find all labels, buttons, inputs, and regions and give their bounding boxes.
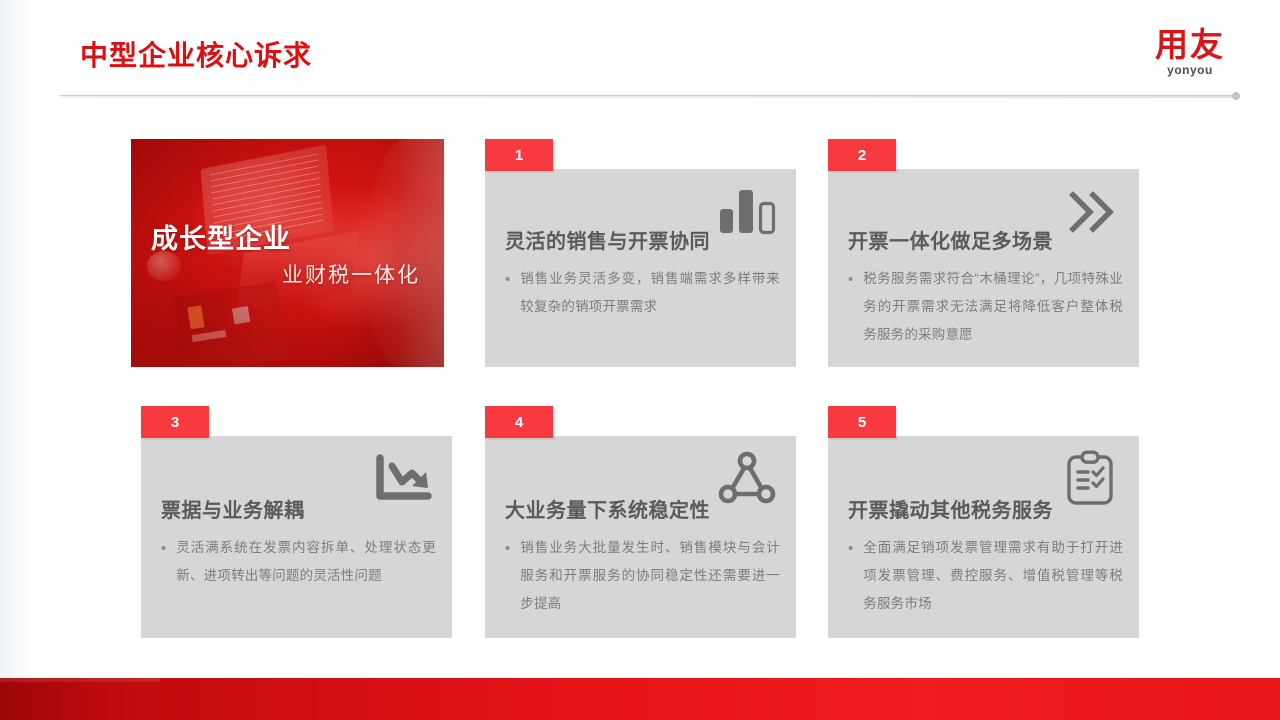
brand-logo-cn: 用友 [1134, 28, 1246, 62]
card-heading-2: 开票一体化做足多场景 [848, 231, 1053, 253]
brand-logo-en: yonyou [1134, 63, 1246, 77]
brand-logo: 用友 yonyou [1134, 28, 1246, 77]
card-text-5: 全面满足销项发票管理需求有助于打开进项发票管理、费控服务、增值税管理等税务服务市… [863, 534, 1123, 618]
feature-card-4[interactable]: 4 大业务量下系统稳定性 • 销售业务大批量发生时、销售模块与会计服务和开票服务… [485, 436, 796, 638]
bullet-icon: • [848, 534, 853, 618]
card-heading-3: 票据与业务解耦 [161, 500, 305, 522]
double-chevron-right-icon [1059, 183, 1121, 241]
feature-card-5[interactable]: 5 开票撬动其他税务服务 • 全面满足销项发票管理需求有助于打开进项发票管理、费… [828, 436, 1139, 638]
card-text-3: 灵活满系统在发票内容拆单、处理状态更新、进项转出等问题的灵活性问题 [176, 534, 436, 590]
card-badge-3: 3 [141, 406, 209, 438]
bar-chart-icon [716, 183, 778, 241]
card-badge-1: 1 [485, 139, 553, 171]
feature-card-2[interactable]: 2 开票一体化做足多场景 • 税务服务需求符合“木桶理论”，几项特殊业务的开票需… [828, 169, 1139, 367]
header-divider-endpoint-dot [1232, 92, 1240, 100]
hero-photo-caption: 成长型企业 业财税一体化 [131, 225, 444, 288]
declining-chart-icon [372, 450, 434, 508]
bullet-icon: • [505, 265, 510, 321]
card-heading-1: 灵活的销售与开票协同 [505, 231, 710, 253]
feature-card-3[interactable]: 3 票据与业务解耦 • 灵活满系统在发票内容拆单、处理状态更新、进项转出等问题的… [141, 436, 452, 638]
card-body-4: • 销售业务大批量发生时、销售模块与会计服务和开票服务的协同稳定性还需要进一步提… [505, 534, 780, 618]
card-text-4: 销售业务大批量发生时、销售模块与会计服务和开票服务的协同稳定性还需要进一步提高 [520, 534, 780, 618]
bullet-icon: • [505, 534, 510, 618]
bullet-icon: • [848, 265, 853, 349]
card-heading-5: 开票撬动其他税务服务 [848, 500, 1053, 522]
card-badge-2: 2 [828, 139, 896, 171]
card-badge-4: 4 [485, 406, 553, 438]
card-badge-5: 5 [828, 406, 896, 438]
left-edge-tint [0, 0, 34, 720]
header-divider-shadow [60, 96, 1235, 98]
clipboard-checklist-icon [1059, 450, 1121, 508]
card-heading-4: 大业务量下系统稳定性 [505, 500, 710, 522]
footer-red-band [0, 678, 1280, 720]
hero-photo-card: 成长型企业 业财税一体化 [131, 139, 444, 367]
feature-card-1[interactable]: 1 灵活的销售与开票协同 • 销售业务灵活多变，销售端需求多样带来较复杂的销项开… [485, 169, 796, 367]
card-body-2: • 税务服务需求符合“木桶理论”，几项特殊业务的开票需求无法满足将降低客户整体税… [848, 265, 1123, 349]
card-body-1: • 销售业务灵活多变，销售端需求多样带来较复杂的销项开票需求 [505, 265, 780, 321]
card-text-1: 销售业务灵活多变，销售端需求多样带来较复杂的销项开票需求 [520, 265, 780, 321]
card-body-3: • 灵活满系统在发票内容拆单、处理状态更新、进项转出等问题的灵活性问题 [161, 534, 436, 590]
card-text-2: 税务服务需求符合“木桶理论”，几项特殊业务的开票需求无法满足将降低客户整体税务服… [863, 265, 1123, 349]
card-body-5: • 全面满足销项发票管理需求有助于打开进项发票管理、费控服务、增值税管理等税务服… [848, 534, 1123, 618]
hero-photo-subtitle: 业财税一体化 [151, 263, 424, 288]
network-triangle-icon [716, 450, 778, 508]
bullet-icon: • [161, 534, 166, 590]
slide-canvas: 中型企业核心诉求 用友 yonyou 成长型企业 业财税一体化 1 [0, 0, 1280, 720]
page-title: 中型企业核心诉求 [80, 42, 312, 70]
hero-photo-title: 成长型企业 [151, 225, 424, 255]
